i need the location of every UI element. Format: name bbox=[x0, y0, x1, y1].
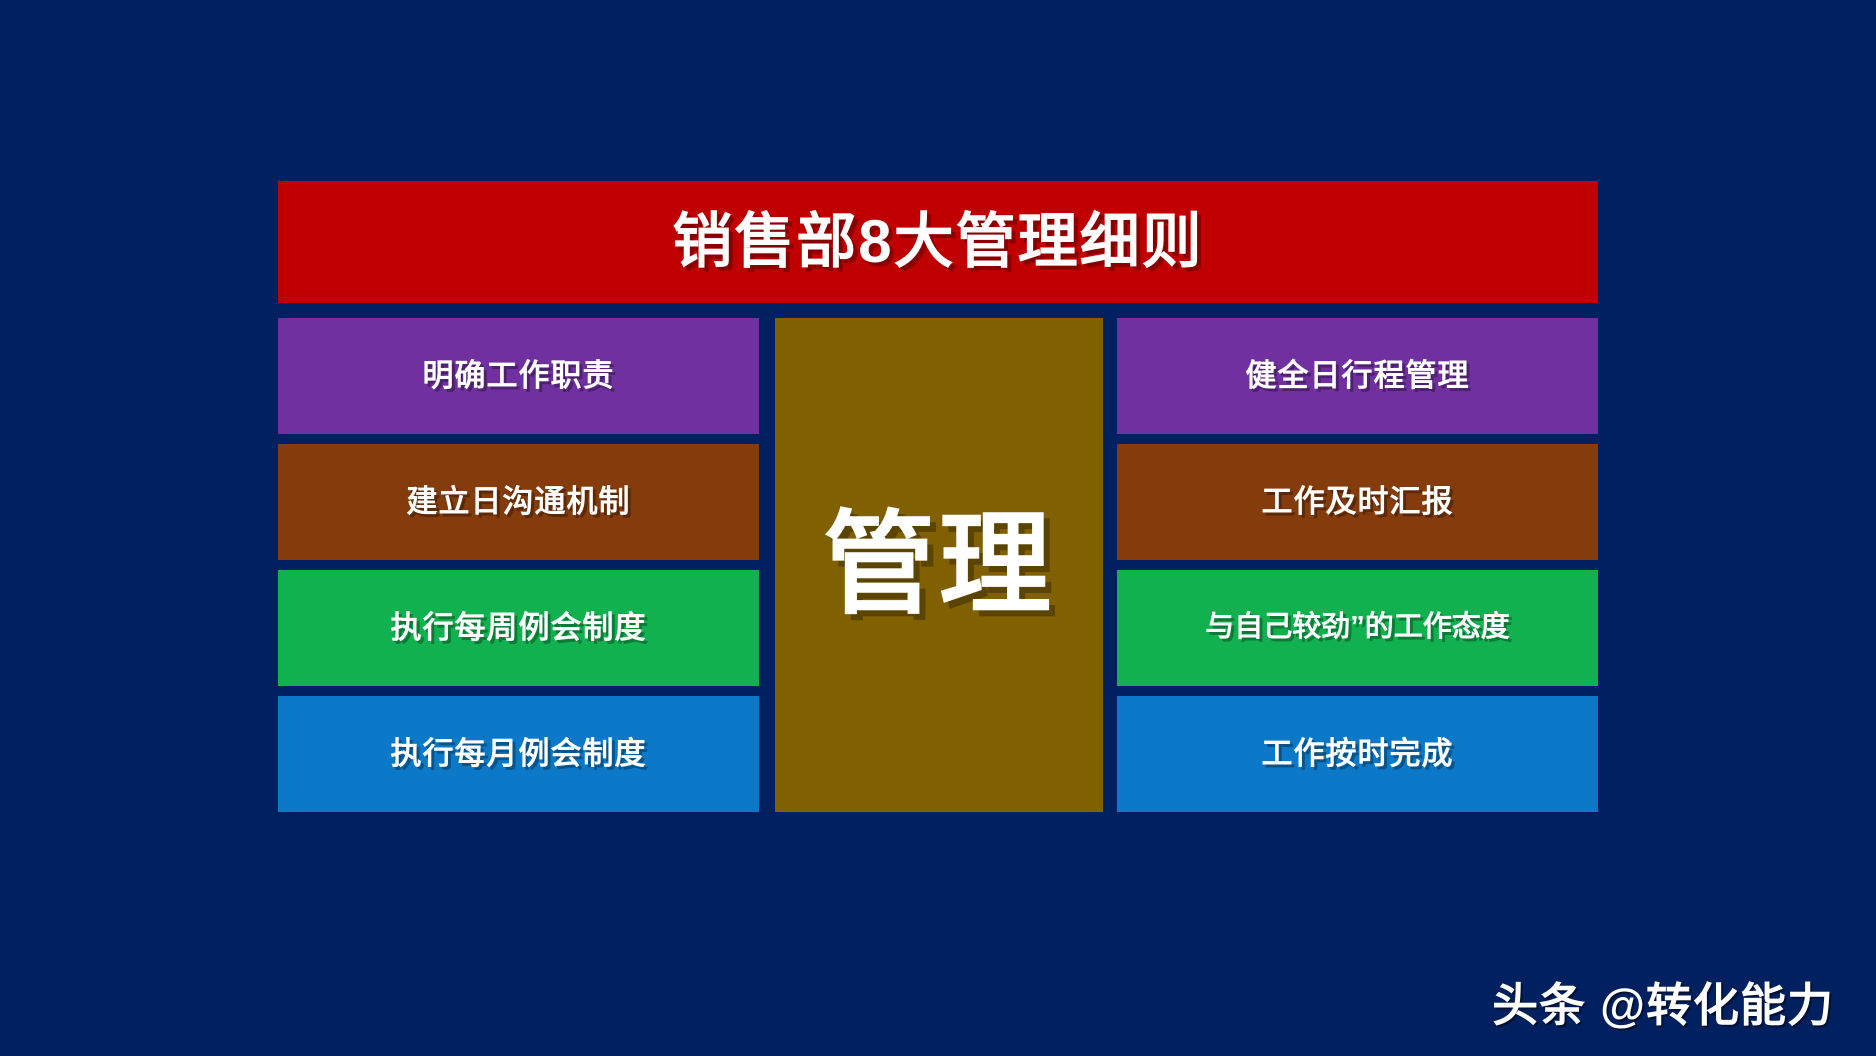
right-column: 健全日行程管理 工作及时汇报 与自己较劲”的工作态度 工作按时完成 bbox=[1117, 318, 1598, 812]
watermark-handle: @转化能力 bbox=[1600, 982, 1834, 1028]
right-item-2[interactable]: 工作及时汇报 bbox=[1117, 444, 1598, 560]
right-item-4[interactable]: 工作按时完成 bbox=[1117, 696, 1598, 812]
left-item-1-label: 明确工作职责 bbox=[423, 359, 615, 393]
left-column: 明确工作职责 建立日沟通机制 执行每周例会制度 执行每月例会制度 bbox=[278, 318, 759, 812]
right-item-3[interactable]: 与自己较劲”的工作态度 bbox=[1117, 570, 1598, 686]
left-item-2[interactable]: 建立日沟通机制 bbox=[278, 444, 759, 560]
right-item-1-label: 健全日行程管理 bbox=[1246, 359, 1470, 393]
right-item-2-label: 工作及时汇报 bbox=[1262, 485, 1454, 519]
watermark-brand: 头条 bbox=[1492, 982, 1586, 1028]
right-item-1[interactable]: 健全日行程管理 bbox=[1117, 318, 1598, 434]
title-banner: 销售部8大管理细则 bbox=[278, 181, 1598, 303]
left-item-4[interactable]: 执行每月例会制度 bbox=[278, 696, 759, 812]
watermark: 头条 @转化能力 bbox=[1492, 982, 1834, 1028]
diagram-matrix: 明确工作职责 建立日沟通机制 执行每周例会制度 执行每月例会制度 管理 健全日行… bbox=[278, 318, 1598, 812]
center-hub-label: 管理 bbox=[823, 509, 1055, 621]
center-hub[interactable]: 管理 bbox=[775, 318, 1103, 812]
page-title: 销售部8大管理细则 bbox=[672, 212, 1203, 272]
left-item-3-label: 执行每周例会制度 bbox=[391, 611, 647, 645]
left-item-2-label: 建立日沟通机制 bbox=[407, 485, 631, 519]
right-item-3-label: 与自己较劲”的工作态度 bbox=[1205, 612, 1510, 644]
right-item-4-label: 工作按时完成 bbox=[1262, 737, 1454, 771]
left-item-4-label: 执行每月例会制度 bbox=[391, 737, 647, 771]
left-item-1[interactable]: 明确工作职责 bbox=[278, 318, 759, 434]
left-item-3[interactable]: 执行每周例会制度 bbox=[278, 570, 759, 686]
slide-canvas: 销售部8大管理细则 明确工作职责 建立日沟通机制 执行每周例会制度 执行每月例会… bbox=[0, 0, 1876, 1056]
